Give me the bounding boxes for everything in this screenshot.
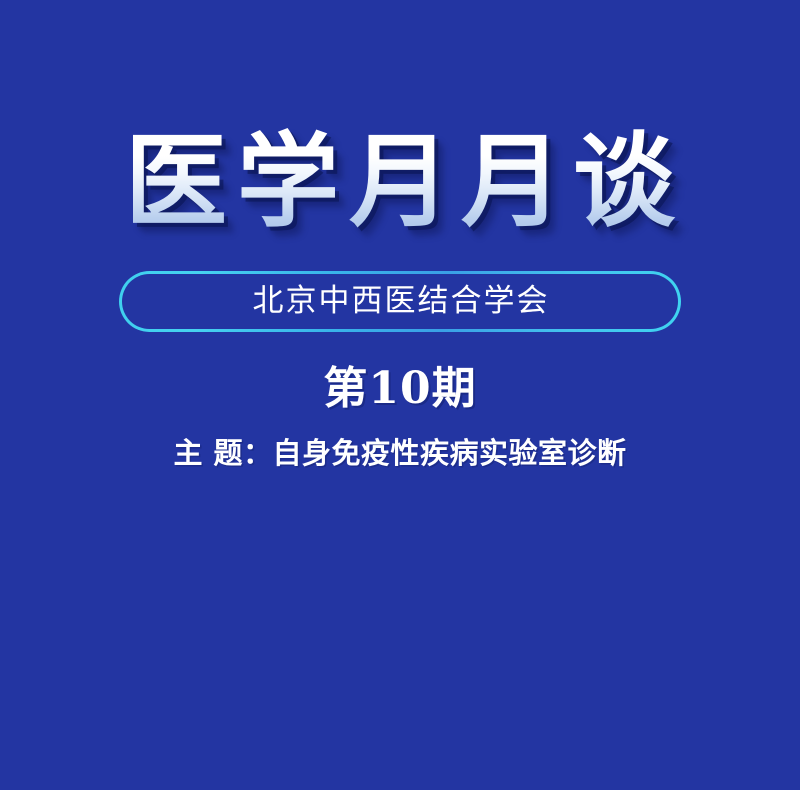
organization-name: 北京中西医结合学会 bbox=[251, 286, 550, 317]
topic-line: 主 题：自身免疫性疾病实验室诊断 bbox=[173, 438, 626, 470]
page-title: 医学月月谈 bbox=[115, 128, 685, 236]
issue-number: 第10期 bbox=[323, 366, 476, 412]
organization-pill-wrap: 北京中西医结合学会 bbox=[0, 271, 800, 332]
organization-pill: 北京中西医结合学会 bbox=[119, 271, 681, 332]
title-block: 医学月月谈 bbox=[0, 128, 800, 236]
issue-wrap: 第10期 bbox=[0, 366, 800, 412]
poster-canvas: 医学月月谈 北京中西医结合学会 第10期 主 题：自身免疫性疾病实验室诊断 bbox=[0, 0, 800, 790]
topic-wrap: 主 题：自身免疫性疾病实验室诊断 bbox=[0, 438, 800, 470]
empty-lower-area bbox=[0, 500, 800, 790]
